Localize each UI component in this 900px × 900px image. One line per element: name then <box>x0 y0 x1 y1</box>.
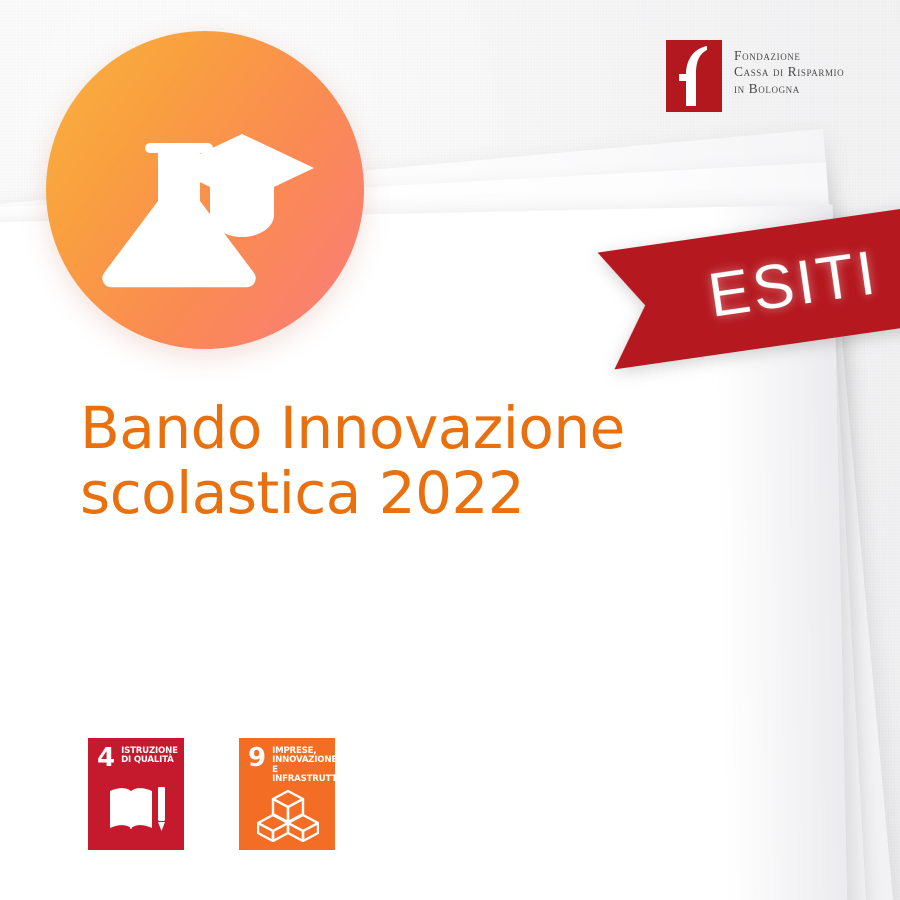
sdg-badge-9: 9 IMPRESE, INNOVAZIONE E INFRASTRUTTURE <box>239 738 335 850</box>
sdg-badge-9-title: IMPRESE, INNOVAZIONE E INFRASTRUTTURE <box>272 747 356 784</box>
foundation-logo: Fondazione Cassa di Risparmio in Bologna <box>666 40 844 112</box>
open-book-and-pencil-icon <box>97 773 176 844</box>
esiti-ribbon-label: ESITI <box>656 237 882 338</box>
sdg-badge-9-title-line2: INNOVAZIONE <box>272 755 337 765</box>
foundation-name-line3: in Bologna <box>734 81 844 97</box>
sdg-badge-9-title-line3: E INFRASTRUTTURE <box>272 765 356 784</box>
sdg-badge-9-number: 9 <box>248 747 266 771</box>
foundation-name-line1: Fondazione <box>734 48 844 64</box>
sdg-badge-4-title: ISTRUZIONE DI QUALITÀ <box>121 747 178 766</box>
poster-canvas: Fondazione Cassa di Risparmio in Bologna… <box>0 0 900 900</box>
sdg-badge-9-header: 9 IMPRESE, INNOVAZIONE E INFRASTRUTTURE <box>248 747 327 784</box>
stacked-cubes-icon <box>248 786 327 844</box>
foundation-name-line2: Cassa di Risparmio <box>734 64 844 80</box>
page-title: Bando Innovazione scolastica 2022 <box>80 396 730 526</box>
sdg-badge-4-title-line2: DI QUALITÀ <box>121 755 174 765</box>
foundation-name: Fondazione Cassa di Risparmio in Bologna <box>734 40 844 97</box>
sdg-badges: 4 ISTRUZIONE DI QUALITÀ 9 IMPRESE, <box>88 738 335 850</box>
stylized-f-logo-icon <box>666 40 722 112</box>
topic-badge <box>46 31 364 349</box>
sdg-badge-4-number: 4 <box>97 747 115 771</box>
page-title-line2: scolastica 2022 <box>80 461 730 526</box>
sdg-badge-4-header: 4 ISTRUZIONE DI QUALITÀ <box>97 747 176 771</box>
page-title-line1: Bando Innovazione <box>80 396 730 461</box>
sdg-badge-4: 4 ISTRUZIONE DI QUALITÀ <box>88 738 184 850</box>
